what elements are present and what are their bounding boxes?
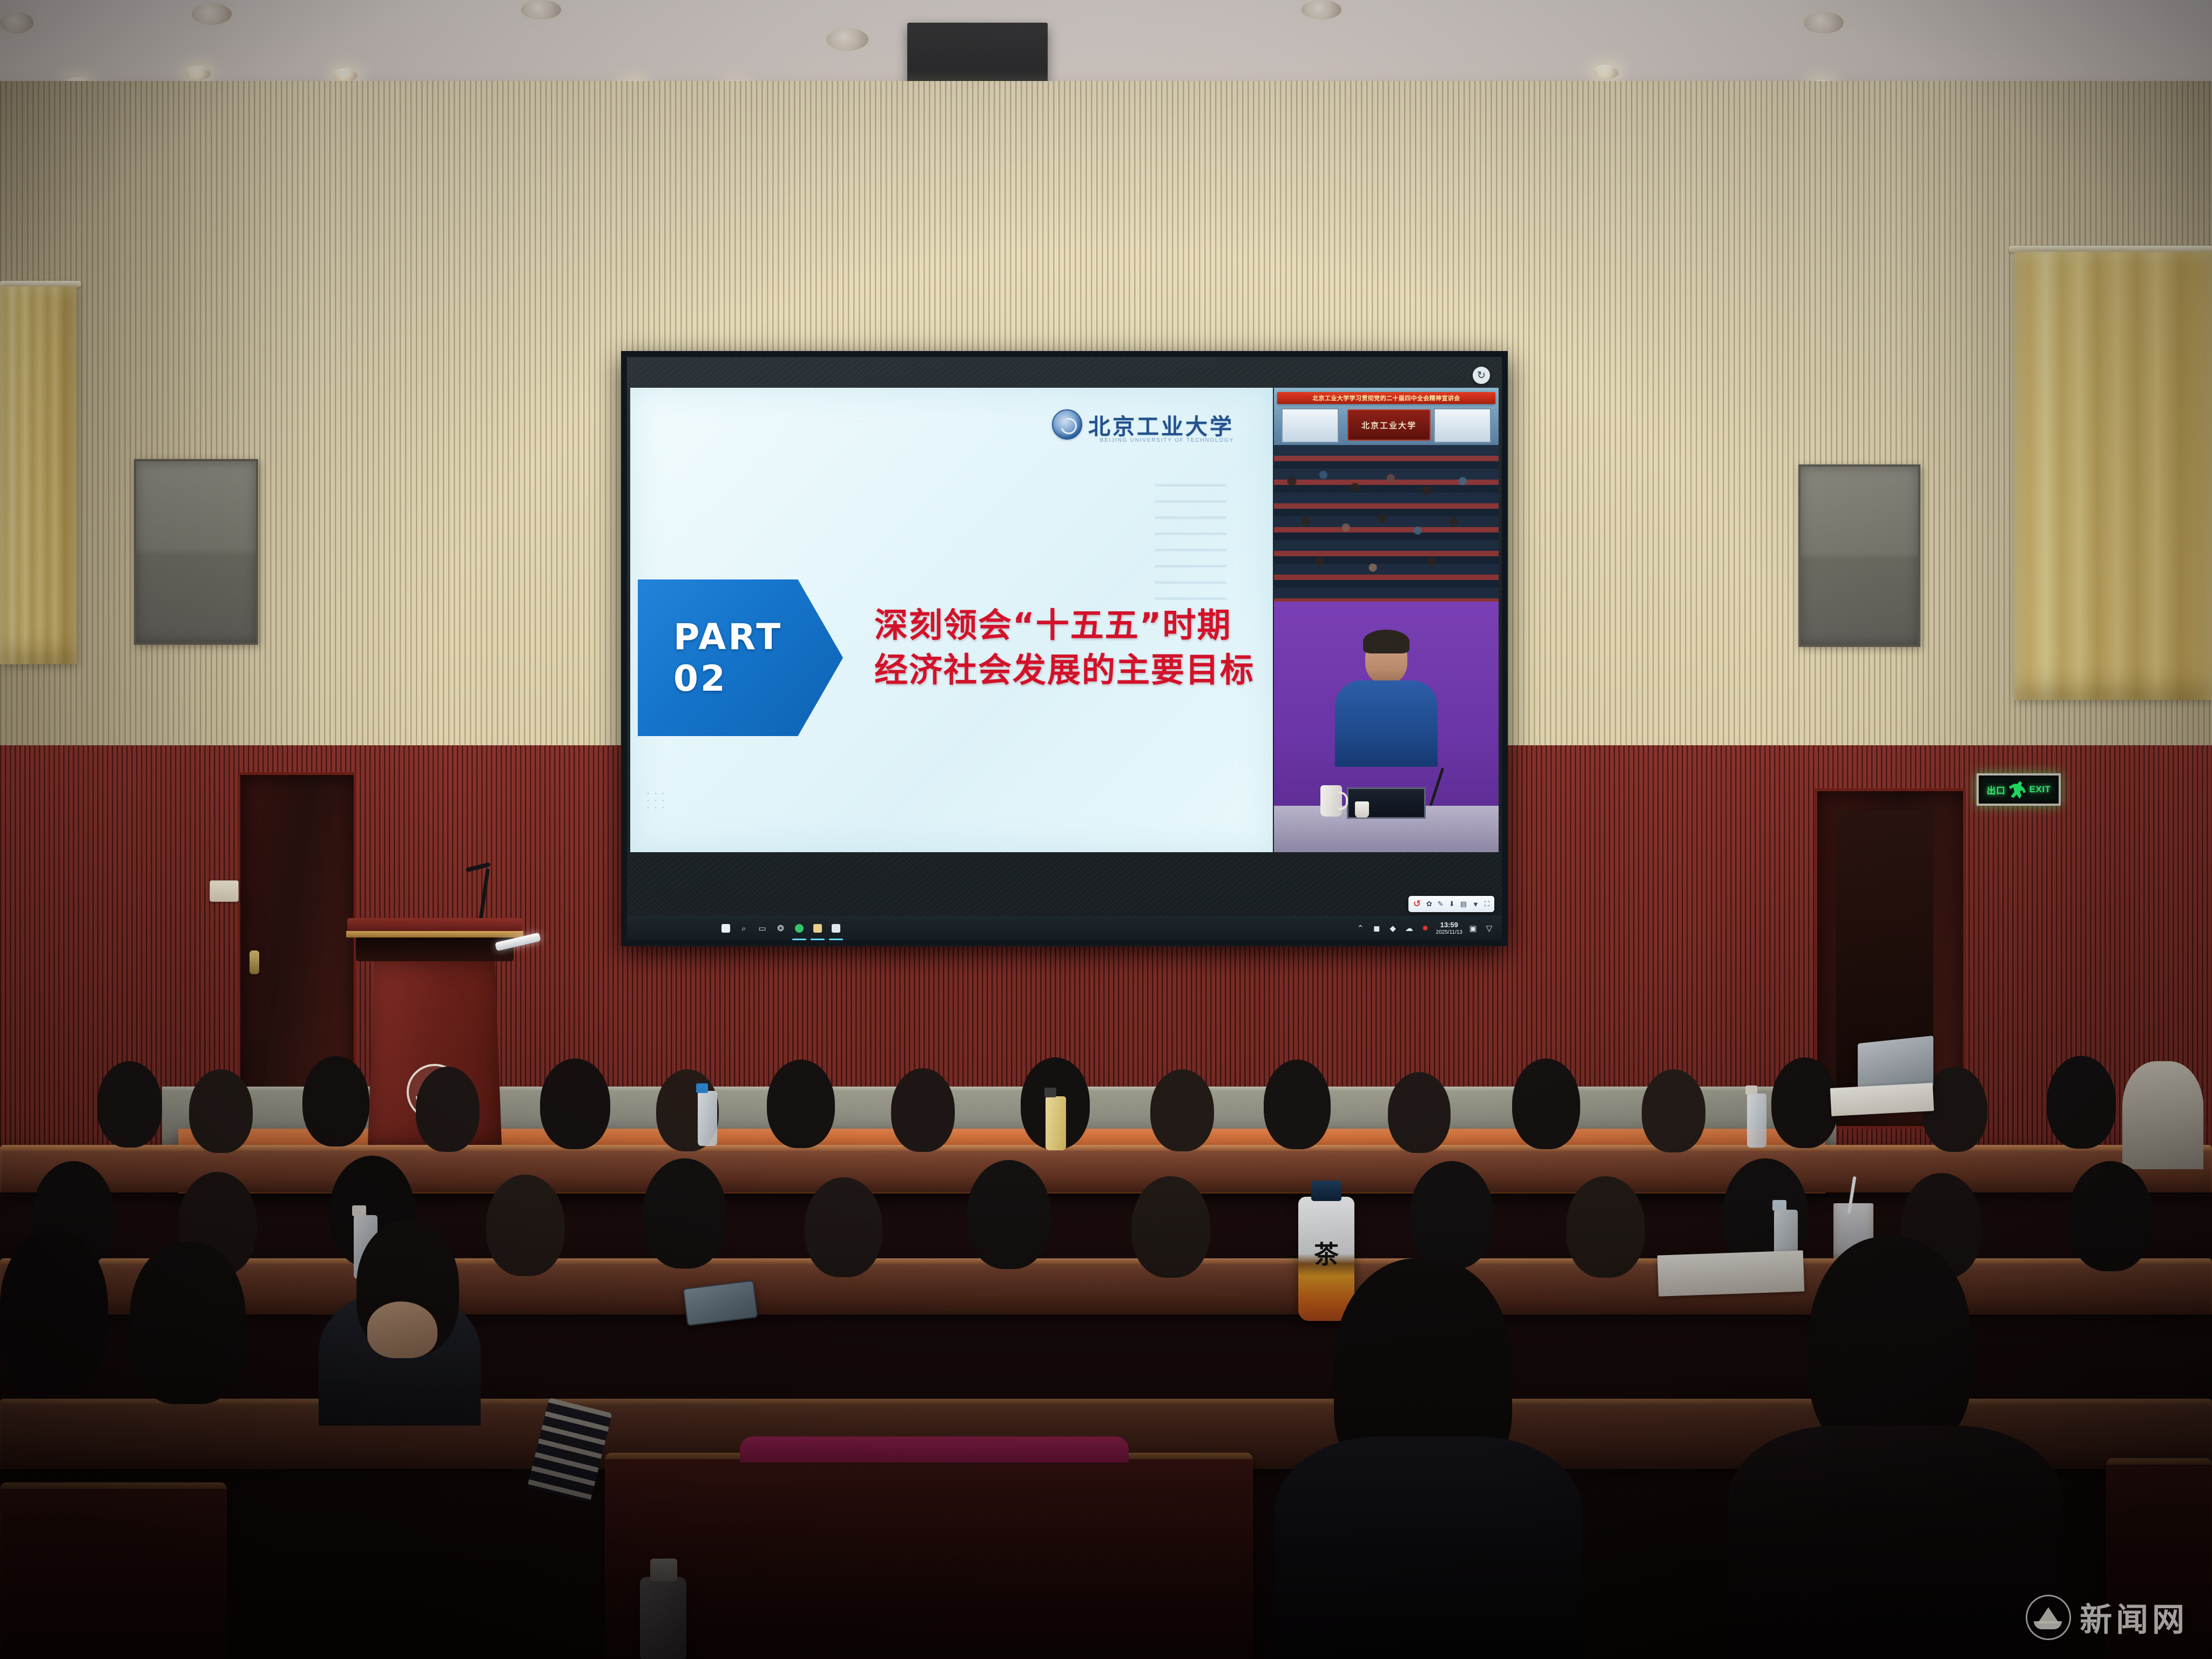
filter-icon[interactable]: ▼ [1472,900,1479,908]
feed-speaker-view [1274,602,1499,852]
feed-speaker-hair [1363,630,1410,653]
tea-bottle-label: 茶 [1301,1237,1351,1269]
university-seal-icon [1052,409,1082,440]
cloud-icon[interactable]: ☁ [1404,922,1415,934]
download-icon[interactable]: ⬇ [1449,900,1455,908]
network-icon[interactable]: ◼ [1371,922,1382,934]
window-curtain-right [2014,252,2212,700]
feed-stage-banner: 北京工业大学 [1347,409,1431,441]
head [302,1056,369,1147]
feed-stage-banner-text: 北京工业大学 [1361,420,1417,431]
feed-audience-heads [1274,447,1499,602]
live-video-feed-panel[interactable]: 北京工业大学学习贯彻党的二十届四中全会精神宣讲会 北京工业大学 [1274,388,1499,852]
feed-red-banner: 北京工业大学学习贯彻党的二十届四中全会精神宣讲会 [1277,392,1495,404]
head [2047,1056,2116,1149]
head [805,1177,882,1277]
slide-decorative-lines [1155,484,1226,613]
bottle-cap [696,1083,708,1093]
water-bottle-foreground [640,1577,686,1659]
wechat-icon[interactable] [793,923,805,934]
head [1512,1058,1580,1149]
expand-icon[interactable]: ⛶ [1485,900,1489,908]
head [1131,1176,1210,1278]
ceiling-downlight [1301,0,1341,19]
head [643,1158,727,1269]
acoustic-panel-left [134,459,258,645]
head [189,1069,253,1153]
feed-tea-cup [1355,801,1369,818]
tea-bottle-cap [1311,1181,1341,1201]
head [130,1242,246,1404]
slide-title-block: 深刻领会“十五五”时期 经济社会发展的主要目标 [874,603,1263,692]
clock-date: 2025/11/13 [1436,929,1462,935]
window-curtain-left [0,286,77,664]
slide-dot-decoration [644,790,669,812]
windows-taskbar[interactable]: ⌕ ▭ ❂ ⌃ ◼ ◆ ☁ ✹ 13:59 [627,916,1502,940]
bottle-cap [650,1559,677,1581]
seat-back [0,1482,227,1659]
ceiling-downlight [521,0,561,19]
paper-document [1830,1083,1934,1116]
watermark: 新闻网 [2026,1594,2188,1641]
watermark-text: 新闻网 [2080,1594,2188,1641]
podium-shelf [356,938,514,961]
file-explorer-icon[interactable] [812,923,823,934]
task-view-icon[interactable]: ▭ [757,923,768,934]
head [1410,1161,1494,1269]
action-center-icon[interactable]: ▣ [1467,922,1479,934]
seat-top-edge [2106,1458,2212,1465]
slide-part-chevron: PART 02 [638,579,843,736]
windows-start-icon[interactable] [720,923,731,934]
head [1388,1072,1451,1153]
projection-screen[interactable]: 北京工业大学 BEIJING UNIVERSITY OF TECHNOLOGY … [621,351,1508,946]
head [2068,1161,2153,1271]
auditorium-photo: 出口 EXIT 北京工业大学 BEIJING UNIVERSITY OF TEC… [0,0,2212,1659]
notification-icon[interactable]: ▽ [1483,922,1495,934]
person-seated [1274,1437,1582,1659]
seat-cushion-pink [740,1437,1129,1462]
presentation-slide: 北京工业大学 BEIJING UNIVERSITY OF TECHNOLOGY … [630,388,1273,852]
bottle-cap [1772,1200,1786,1211]
podium-gold-trim [346,931,523,938]
widgets-icon[interactable]: ❂ [775,923,786,934]
sogou-ime-icon[interactable]: ✹ [1420,922,1431,934]
exit-sign-label-cn: 出口 [1987,783,2006,797]
feed-projection-right [1434,408,1491,443]
ceiling-downlight [333,68,358,82]
person-seated [2122,1061,2203,1169]
ceiling-downlight [1804,12,1844,33]
acoustic-panel-right [1798,464,1920,647]
feed-speaker-body [1335,680,1438,767]
head [891,1068,955,1152]
head [97,1061,162,1148]
floating-toolbar[interactable]: ↺ ✿ ✎ ⬇ ▤ ▼ ⛶ [1408,896,1494,912]
refresh-rotate-icon[interactable]: ↻ [1473,367,1490,384]
bottle-cap [1044,1088,1056,1097]
bottle-cap [1745,1085,1757,1095]
ceiling-downlight [192,3,232,25]
seat-top-edge [0,1482,227,1489]
taskbar-clock[interactable]: 13:59 2025/11/13 [1436,921,1462,935]
slide-logo-text: 北京工业大学 [1088,408,1234,441]
volume-icon[interactable]: ◆ [1387,922,1399,934]
slide-title-line-2: 经济社会发展的主要目标 [874,648,1263,692]
window-icon[interactable]: ▤ [1460,900,1467,908]
podium-top [347,918,522,932]
slide-part-label: PART 02 [673,616,843,699]
head [486,1175,565,1276]
feed-microphone-icon [1429,767,1445,806]
smartphone[interactable] [683,1280,758,1326]
head [1771,1057,1838,1148]
beverage-bottle [1046,1096,1066,1150]
feed-audience-view: 北京工业大学学习贯彻党的二十届四中全会精神宣讲会 北京工业大学 [1274,388,1499,602]
ceiling-downlight [826,28,868,51]
slide-logo-subtext: BEIJING UNIVERSITY OF TECHNOLOGY [1100,437,1234,443]
hand [367,1301,437,1358]
head [1809,1237,1971,1453]
feed-projection-left [1282,408,1339,443]
search-icon[interactable]: ⌕ [738,923,750,934]
door-handle-left[interactable] [249,950,259,974]
ceiling-downlight [0,12,33,33]
clock-time: 13:59 [1440,921,1458,929]
head [540,1058,610,1149]
settings-icon[interactable]: ✿ [1426,900,1432,908]
head [416,1067,480,1152]
water-bottle [698,1091,717,1146]
ceiling-downlight [1593,65,1619,79]
ceiling-downlight [185,66,211,80]
light-switch[interactable] [210,880,239,902]
head [1566,1176,1645,1278]
head [767,1060,835,1148]
paper-handout [1657,1250,1804,1296]
bottle-cap [352,1205,366,1216]
exit-sign-label-en: EXIT [2029,784,2051,795]
exit-sign: 出口 EXIT [1977,773,2061,806]
seat-back [605,1453,1253,1659]
pen-icon[interactable]: ✎ [1438,900,1444,908]
running-person-icon [2008,780,2027,799]
water-bottle [1747,1094,1766,1148]
person-seated [1728,1426,2063,1659]
desk-row [0,1145,2212,1192]
slide-university-logo: 北京工业大学 [1052,408,1234,441]
university-seal-icon [2026,1595,2071,1640]
back-arrow-icon[interactable]: ↺ [1413,899,1421,909]
feed-water-kettle [1320,785,1342,817]
feed-banner-text: 北京工业大学学习贯彻党的二十届四中全会精神宣讲会 [1312,394,1460,402]
chevron-up-icon[interactable]: ⌃ [1355,922,1366,934]
head [1264,1060,1331,1149]
head [1642,1069,1705,1152]
head [967,1160,1051,1269]
head [0,1231,108,1393]
slide-title-line-1: 深刻领会“十五五”时期 [874,603,1263,648]
head [1150,1069,1214,1151]
browser-icon[interactable] [830,923,841,934]
